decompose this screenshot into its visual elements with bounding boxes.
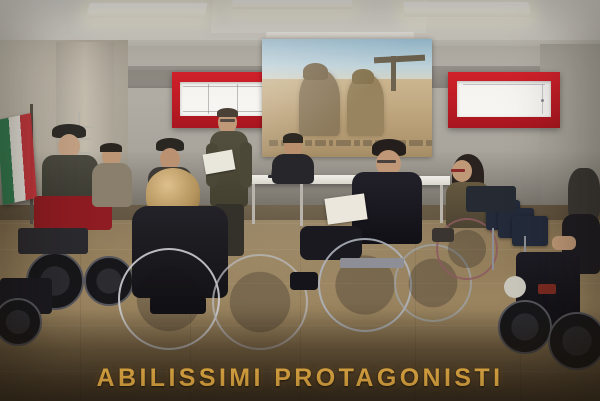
wheelchair-frame-bar — [340, 258, 404, 268]
wheelchair-light — [538, 284, 556, 294]
ceiling-light-2 — [403, 2, 531, 17]
torso — [92, 163, 132, 207]
glasses-icon — [377, 160, 396, 163]
panel-divider — [183, 86, 263, 87]
panel-divider — [208, 84, 209, 114]
presenter-arm-right — [240, 142, 252, 188]
table-leg — [252, 184, 255, 224]
speaker-hair — [283, 133, 303, 143]
stacked-chair — [512, 216, 548, 246]
caption-text: ABILISSIMI PROTAGONISTI — [0, 364, 600, 393]
panel-divider — [237, 84, 238, 114]
hair — [100, 143, 122, 152]
ceiling-light-3 — [232, 0, 353, 9]
hand — [552, 236, 576, 250]
right-panel-inner — [457, 81, 551, 117]
papers — [324, 193, 367, 224]
chair-leg — [492, 228, 494, 270]
ceiling-light-1 — [86, 3, 207, 18]
right-red-framed-panel — [448, 72, 560, 128]
panel-dot — [541, 99, 544, 102]
italian-flag — [0, 113, 37, 205]
equipment-case — [466, 186, 516, 212]
wheelchair-base — [18, 228, 88, 254]
panel-divider — [463, 84, 545, 85]
shoe — [290, 272, 318, 290]
table-leg — [300, 184, 303, 226]
presenter-hair — [217, 108, 238, 117]
wheelchair-joystick — [504, 276, 526, 298]
photograph-abilissimi-protagonisti: ABILISSIMI PROTAGONISTI — [0, 0, 600, 401]
hair — [568, 168, 600, 220]
wheelchair-armrest — [432, 228, 454, 242]
glasses-icon — [220, 119, 235, 122]
speaker-torso — [272, 154, 314, 184]
glasses-icon — [451, 169, 465, 172]
table-leg — [440, 185, 443, 223]
